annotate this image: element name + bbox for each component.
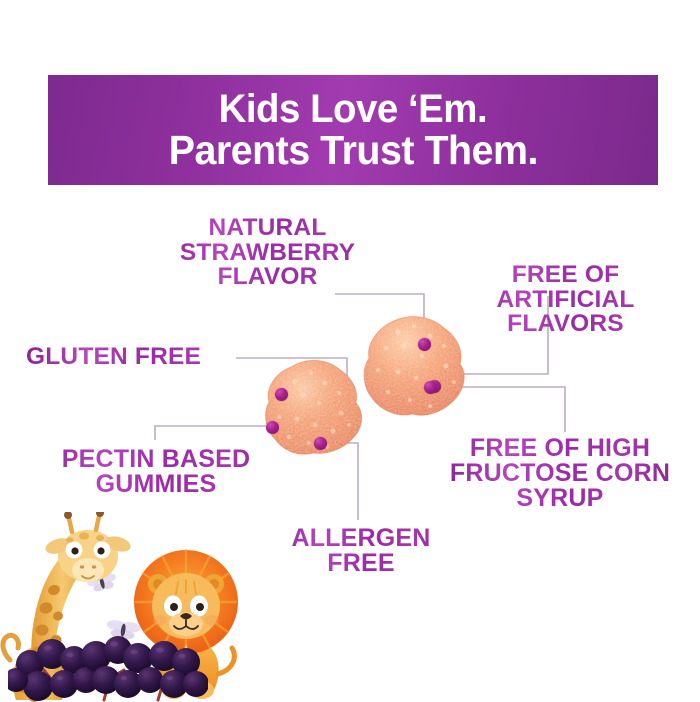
banner-line-2: Parents Trust Them. <box>168 130 537 170</box>
label-free-of-high-fructose-corn-syrup: FREE OF HIGH FRUCTOSE CORN SYRUP <box>444 436 676 511</box>
connector-pectin-based <box>155 426 266 440</box>
label-pectin-based-gummies: PECTIN BASED GUMMIES <box>36 447 276 497</box>
label-natural-strawberry-flavor: NATURAL STRAWBERRY FLAVOR <box>160 216 375 290</box>
elderberry-cluster <box>8 628 208 702</box>
marker-natural-strawberry-dot <box>418 338 431 351</box>
marker-gluten-free-dot <box>275 388 288 401</box>
marker-allergen-free-dot <box>314 437 327 450</box>
banner-line-1: Kids Love ‘Em. <box>219 90 488 129</box>
headline-banner: Kids Love ‘Em. Parents Trust Them. <box>48 75 658 185</box>
marker-pectin-based-dot <box>266 421 279 434</box>
poster-canvas: Kids Love ‘Em. Parents Trust Them. NATUR… <box>0 0 700 700</box>
label-allergen-free: ALLERGEN FREE <box>268 526 454 576</box>
marker-hfcs-dot <box>424 381 437 394</box>
label-gluten-free: GLUTEN FREE <box>26 345 241 370</box>
label-free-of-artificial-flavors: FREE OF ARTIFICIAL FLAVORS <box>463 263 668 337</box>
gummy-right <box>352 312 474 424</box>
